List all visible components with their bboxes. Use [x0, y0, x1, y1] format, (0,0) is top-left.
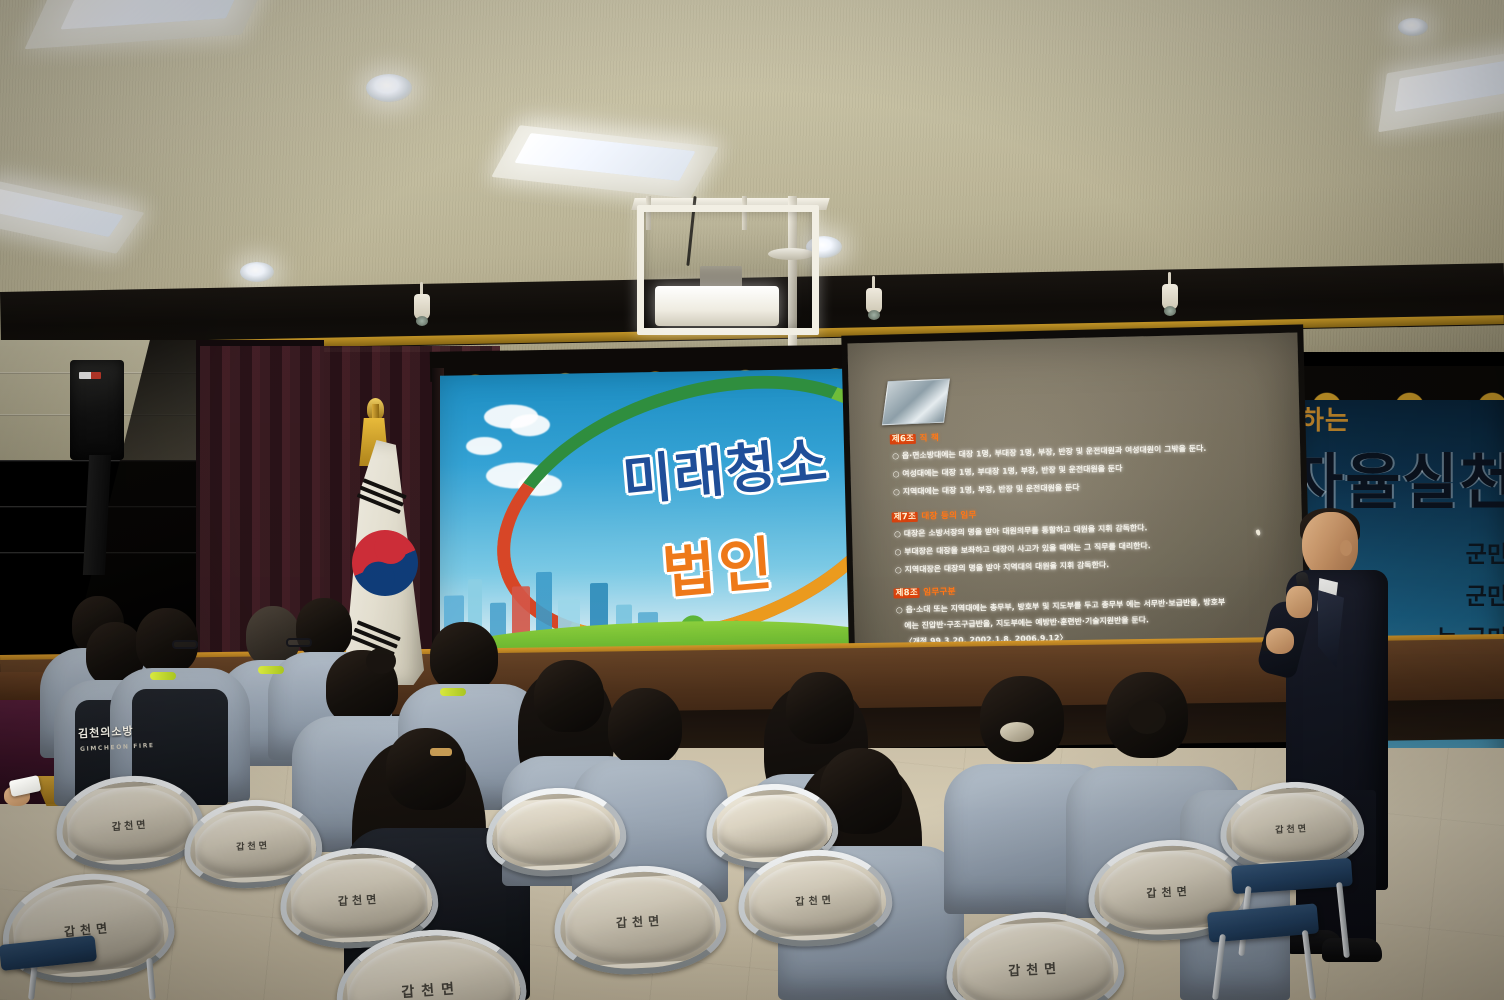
presenter-hand-with-mic — [1286, 586, 1312, 618]
speaker-brand-logo — [79, 372, 101, 379]
chair-12[interactable]: 갑천면 — [1224, 785, 1360, 870]
slide-section-0-heading: 제6조 직 책 — [890, 431, 940, 444]
chair-venue-label: 갑천면 — [749, 889, 882, 911]
head — [608, 688, 682, 766]
chair-venue-label: 갑천면 — [347, 974, 516, 1000]
slide-section-0-number: 제6조 — [890, 434, 917, 445]
right-banner-subtitle: 하는 — [1300, 400, 1350, 437]
spotlight-2 — [1162, 284, 1178, 310]
ceiling-downlight-2 — [240, 262, 274, 282]
chair-venue-label: 갑천면 — [565, 909, 716, 934]
chair-10[interactable]: 갑천면 — [950, 914, 1121, 1000]
slide-section-0-line-2: ○ 지역대에는 대장 1명, 부장, 반장 및 운전대원을 둔다 — [893, 482, 1080, 498]
chair-venue-label: 갑천면 — [957, 955, 1114, 982]
slide-section-2-number: 제8조 — [893, 588, 920, 599]
chair-venue-label: 갑천면 — [291, 888, 428, 911]
presenter-hand-with-clicker — [1266, 628, 1294, 654]
spotlight-3 — [414, 294, 430, 320]
banner-cloud-5 — [466, 437, 502, 456]
banner-cloud-2 — [510, 414, 550, 437]
presenter-ear — [1340, 540, 1352, 556]
hair-clip — [1000, 722, 1034, 742]
chair-9[interactable]: 갑천면 — [742, 852, 888, 943]
hair-bun — [1128, 700, 1166, 734]
slide-section-1-line-2: ○ 지역대장은 대장의 명을 받아 지역대의 대원을 지휘 감독한다. — [895, 559, 1110, 575]
presenter-shoe-right — [1322, 938, 1382, 962]
head — [534, 660, 604, 732]
head — [386, 728, 466, 810]
chair-7[interactable] — [490, 791, 622, 874]
slide-section-2-heading: 제8조 임무구분 — [893, 585, 955, 599]
chair-5[interactable]: 갑천면 — [339, 930, 524, 1000]
slide-section-0-line-0: ○ 읍·면소방대에는 대장 1명, 부대장 1명, 부장, 반장 및 운전대원과… — [892, 443, 1207, 462]
slide-image-thumbnail — [882, 379, 950, 426]
slide-section-1-title: 대장 등의 임무 — [921, 510, 976, 521]
mouse-cursor-dot — [1255, 529, 1261, 536]
vest-org-label: 김천의소방 — [78, 723, 134, 742]
chair-venue-label: 갑천면 — [1099, 880, 1240, 903]
eyeglasses — [172, 640, 198, 649]
slide-section-2-title: 임무구분 — [923, 587, 956, 598]
lanyard-tag — [150, 672, 176, 680]
spotlight-1 — [866, 288, 882, 314]
hair-tie — [430, 748, 452, 756]
chair-6[interactable]: 갑천면 — [558, 868, 723, 972]
pa-speaker — [70, 360, 124, 460]
slide-section-1-heading: 제7조 대장 등의 임무 — [892, 508, 977, 522]
chair-venue-label: 갑천면 — [67, 813, 194, 837]
chair-backrest: 갑천면 — [339, 930, 524, 1000]
chair-2[interactable]: 갑천면 — [59, 777, 200, 868]
ceiling-downlight-4 — [1398, 18, 1428, 36]
ceiling-projector — [655, 286, 779, 326]
right-banner-scallop — [1296, 366, 1504, 400]
slide-section-2-line-0: ○ 읍·소대 또는 지역대에는 총무부, 방호부 및 지도부를 두고 총무부 에… — [896, 596, 1225, 615]
banner-title-line2: 법인 — [659, 516, 777, 610]
slide-section-0-line-1: ○ 여성대에는 대장 1명, 부대장 1명, 부장, 반장 및 운전대원을 둔다 — [893, 463, 1123, 480]
head — [786, 672, 854, 744]
head — [296, 598, 352, 658]
slide-section-1-line-0: ○ 대장은 소방서장의 명을 받아 대원의무를 통할하고 대원을 지휘 감독한다… — [894, 522, 1148, 539]
ceiling-downlight-1 — [366, 74, 412, 102]
chair-venue-label: 갑천면 — [1231, 818, 1354, 837]
slide-section-0-title: 직 책 — [919, 433, 939, 443]
auditorium-scene: 미래청소 법인 하는 자율실천 군민 군민 는 군민 가꾸는 군민 하는 군민 — [0, 0, 1504, 1000]
slide-section-2-line-1: 에는 진압반·구조구급반을, 지도부에는 예방반·훈련반·기술지원반을 둔다. — [904, 614, 1149, 631]
lanyard-tag — [258, 666, 284, 674]
chair-venue-label: 갑천면 — [195, 836, 312, 855]
slide-section-1-number: 제7조 — [892, 512, 919, 523]
eyeglasses — [286, 638, 312, 647]
head — [430, 622, 498, 692]
head — [980, 676, 1064, 762]
lanyard-tag — [440, 688, 466, 696]
slide-section-1-line-1: ○ 부대장은 대장을 보좌하고 대장이 사고가 있을 때에는 그 직무를 대리한… — [894, 540, 1151, 557]
hair-bun — [366, 648, 396, 674]
